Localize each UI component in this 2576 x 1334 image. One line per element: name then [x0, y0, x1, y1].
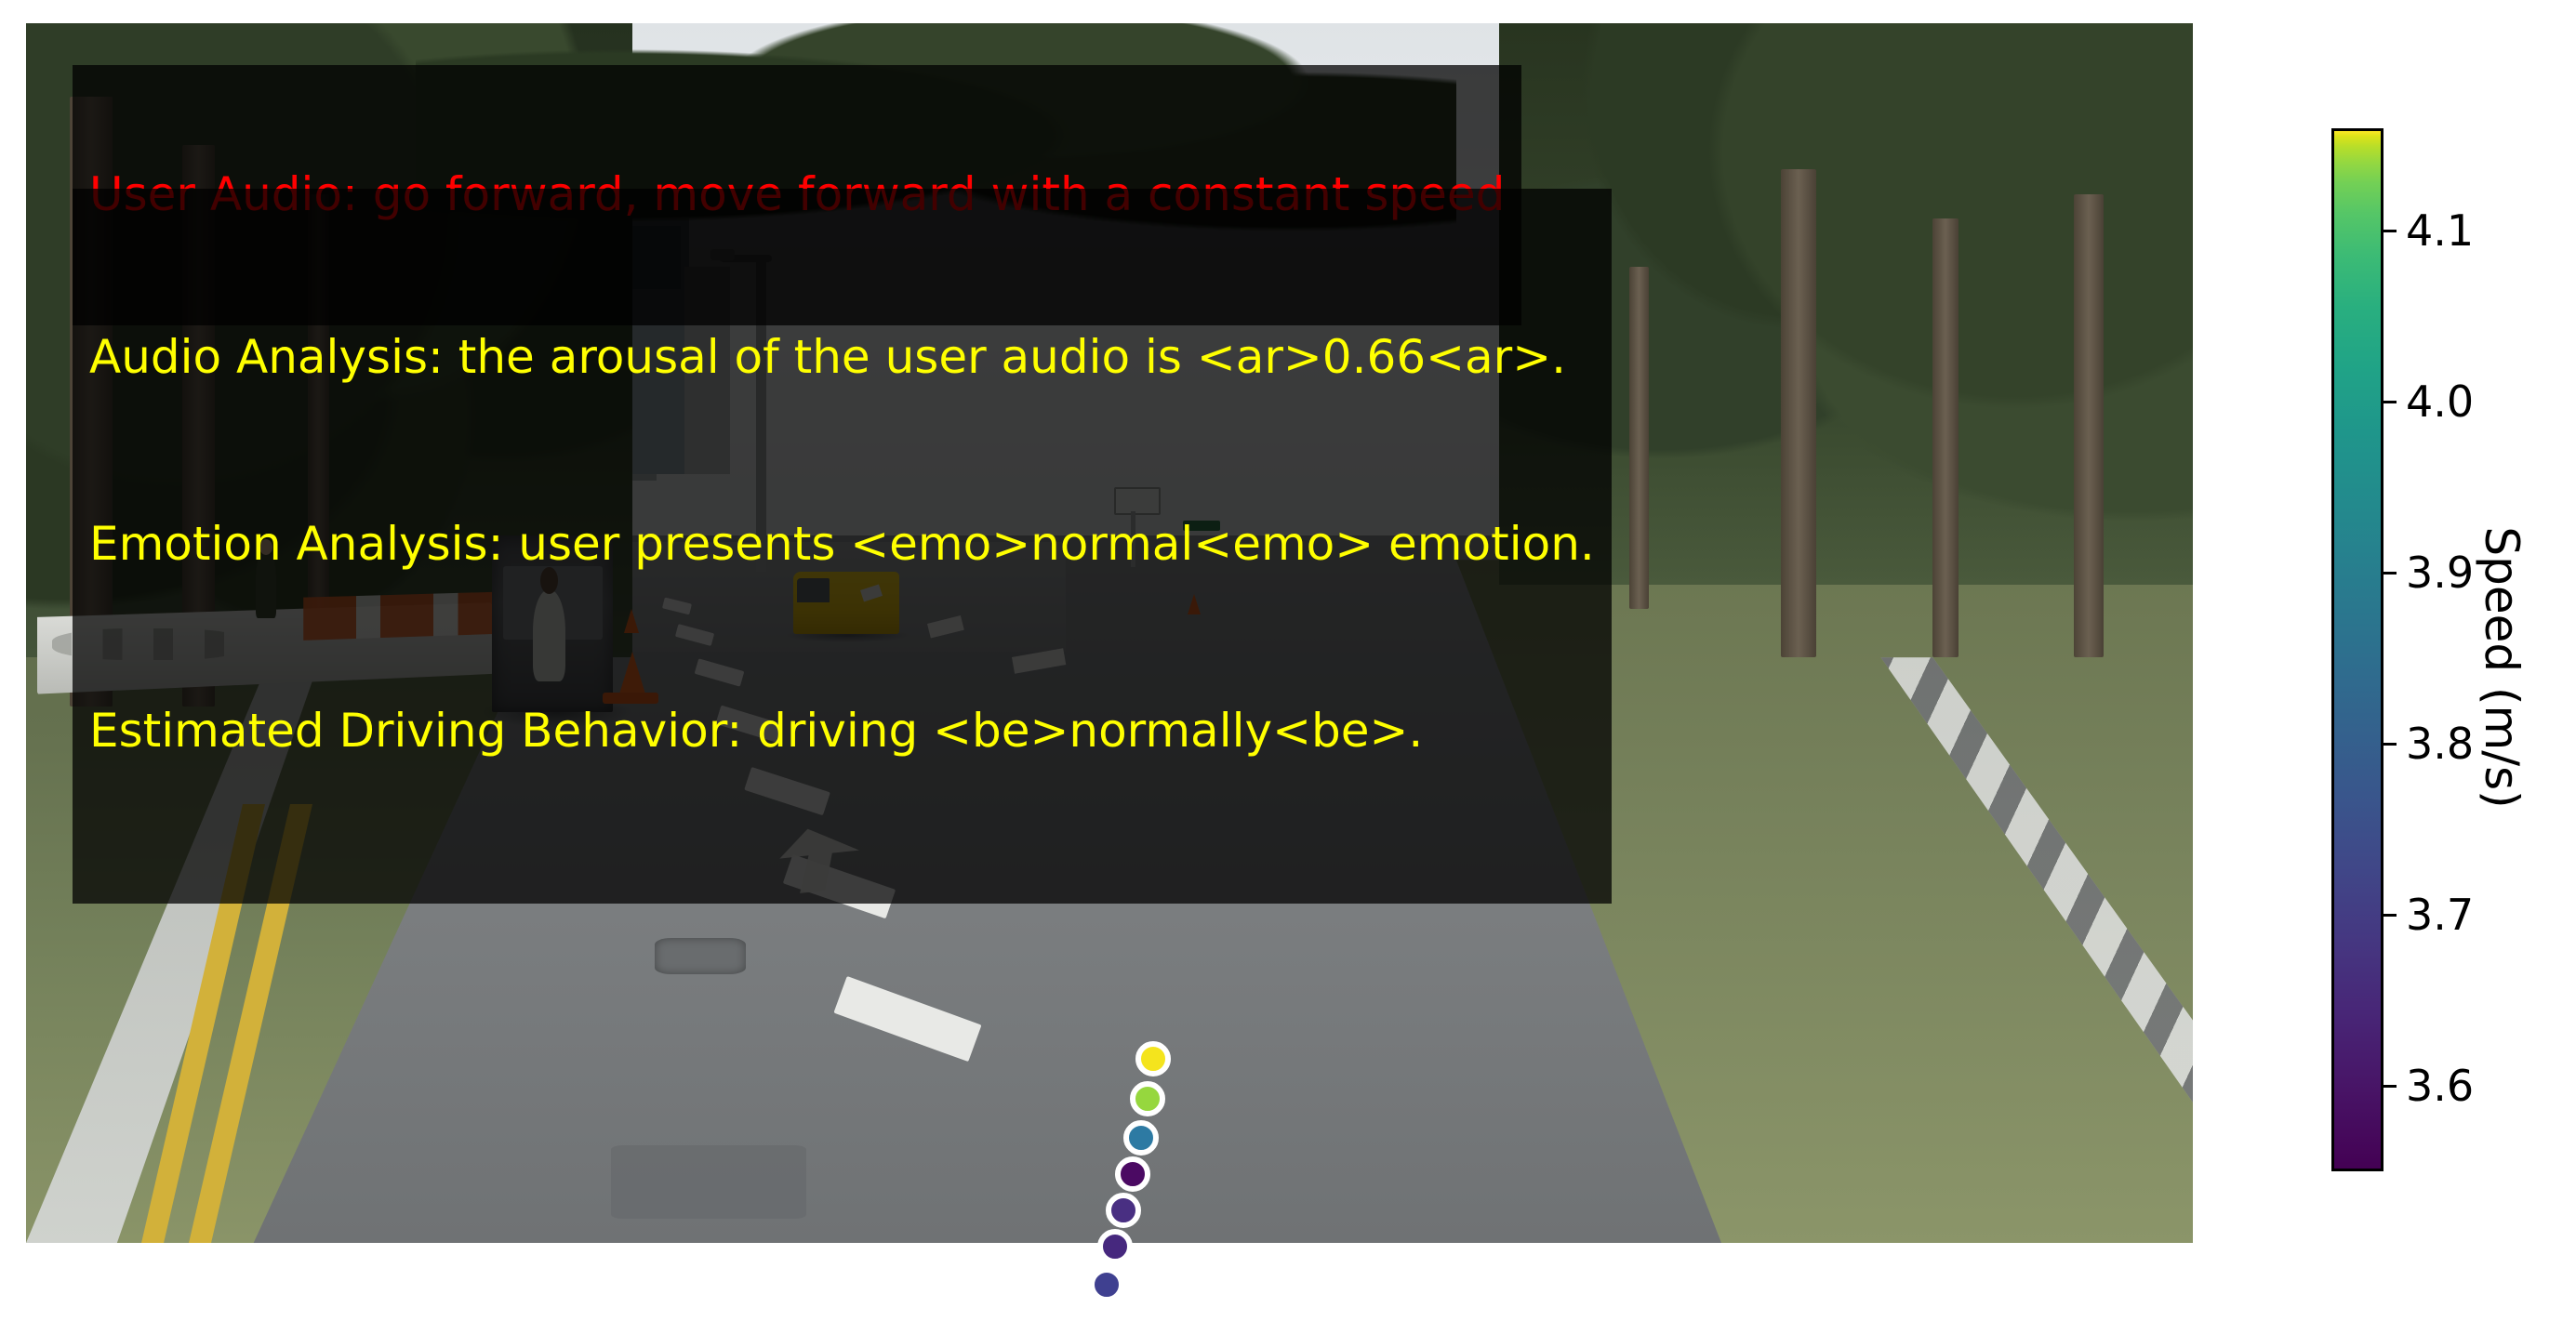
emotion-analysis-line: Emotion Analysis: user presents <emo>nor…	[89, 513, 1595, 575]
road-patch	[611, 1145, 806, 1219]
trajectory-waypoint	[1123, 1120, 1159, 1156]
driving-scene-image: User Audio: go forward, move forward wit…	[26, 23, 2193, 1243]
colorbar-tick-label: 4.1	[2406, 205, 2474, 256]
driving-behavior-line: Estimated Driving Behavior: driving <be>…	[89, 700, 1595, 762]
colorbar-tick-mark	[2383, 230, 2397, 232]
colorbar-gradient	[2331, 128, 2383, 1171]
colorbar-tick-label: 3.8	[2406, 719, 2474, 769]
tree-trunk	[1629, 267, 1649, 608]
trajectory-waypoint	[1106, 1193, 1141, 1228]
trajectory-waypoint	[1097, 1229, 1133, 1264]
manhole-cover	[655, 938, 746, 974]
trajectory-waypoint	[1135, 1041, 1171, 1076]
colorbar-tick-label: 3.6	[2406, 1061, 2474, 1111]
colorbar-tick-mark	[2383, 1085, 2397, 1088]
analysis-overlay: Audio Analysis: the arousal of the user …	[73, 189, 1612, 904]
tree-trunk	[1781, 169, 1815, 657]
colorbar-tick-mark	[2383, 572, 2397, 575]
colorbar-tick-label: 3.9	[2406, 548, 2474, 598]
trajectory-waypoint	[1089, 1267, 1124, 1302]
visualization-root: User Audio: go forward, move forward wit…	[0, 0, 2576, 1334]
tree-trunk	[2074, 194, 2105, 658]
trajectory-waypoint	[1115, 1156, 1150, 1192]
colorbar-tick-label: 3.7	[2406, 890, 2474, 940]
audio-analysis-line: Audio Analysis: the arousal of the user …	[89, 326, 1595, 389]
colorbar-tick-label: 4.0	[2406, 376, 2474, 427]
colorbar-tick-mark	[2383, 914, 2397, 917]
speed-colorbar[interactable]: 4.14.03.93.83.73.6	[2331, 128, 2383, 1171]
colorbar-tick-mark	[2383, 743, 2397, 746]
tree-trunk	[1932, 218, 1959, 657]
colorbar-tick-mark	[2383, 401, 2397, 403]
colorbar-axis-label: Speed (m/s)	[2475, 526, 2529, 808]
trajectory-waypoint	[1130, 1081, 1165, 1116]
